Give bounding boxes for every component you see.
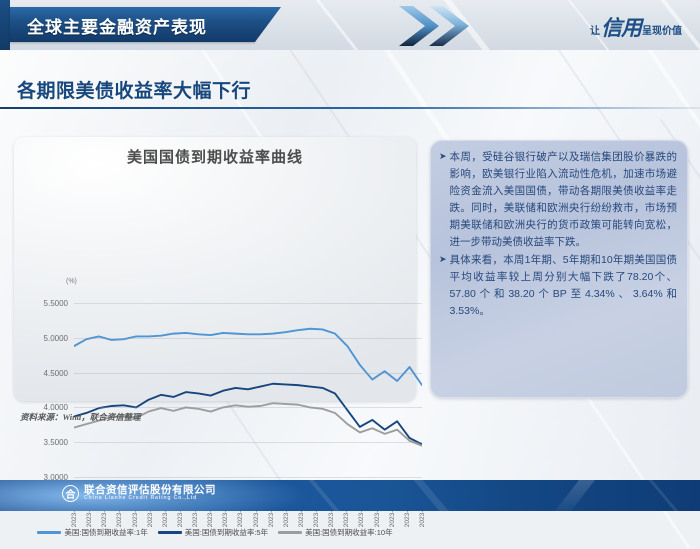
banner-accent-bar bbox=[0, 0, 10, 50]
commentary-text: 具体来看，本周1年期、5年期和10年期美国国债平均收益率较上周分别大幅下跌了78… bbox=[450, 252, 677, 320]
page-title: 各期限美债收益率大幅下行 bbox=[17, 76, 251, 103]
chart-legend-item[interactable]: 美国:国债到期收益率:5年 bbox=[158, 527, 268, 538]
chart-series-line bbox=[74, 403, 422, 445]
chart-legend-swatch bbox=[278, 531, 302, 534]
brand-slogan-suffix: 呈现价值 bbox=[642, 22, 682, 38]
chart-gridline bbox=[74, 442, 422, 443]
chart-gridline bbox=[74, 373, 422, 374]
commentary-bullet: ➤本周，受硅谷银行破产以及瑞信集团股价暴跌的影响，欧美银行业陷入流动性危机，加速… bbox=[439, 149, 677, 251]
brand-slogan: 让 信用 呈现价值 bbox=[590, 20, 682, 38]
chart-gridline bbox=[74, 407, 422, 408]
chart-lines bbox=[74, 303, 422, 477]
chart-legend-swatch bbox=[158, 531, 182, 534]
banner-title: 全球主要金融资产表现 bbox=[27, 13, 207, 38]
chart-legend: 美国:国债到期收益率:1年美国:国债到期收益率:5年美国:国债到期收益率:10年 bbox=[14, 527, 416, 538]
arrow-bullet-icon: ➤ bbox=[439, 252, 447, 267]
chart-title: 美国国债到期收益率曲线 bbox=[14, 146, 416, 167]
chart-gridline bbox=[74, 338, 422, 339]
chart-gridline bbox=[74, 477, 422, 478]
chart-source-note: 资料来源：Wind，联合资信整理 bbox=[20, 411, 141, 423]
chart-y-tick-label: 3.5000 bbox=[22, 438, 68, 447]
commentary-bullet: ➤具体来看，本周1年期、5年期和10年期美国国债平均收益率较上周分别大幅下跌了7… bbox=[439, 252, 677, 320]
arrow-bullet-icon: ➤ bbox=[439, 149, 447, 164]
lianhe-circle-logo-icon: 合 bbox=[62, 485, 79, 502]
commentary-panel: ➤本周，受硅谷银行破产以及瑞信集团股价暴跌的影响，欧美银行业陷入流动性危机，加速… bbox=[430, 140, 688, 398]
chart-unit-label: (%) bbox=[66, 278, 77, 285]
chart-plot-area bbox=[74, 303, 422, 477]
brand-slogan-prefix: 让 bbox=[590, 22, 600, 38]
heading-divider bbox=[0, 107, 700, 109]
chart-y-tick-label: 5.0000 bbox=[22, 334, 68, 343]
page-footer: 合 联合资信评估股份有限公司 China Lianhe Credit Ratin… bbox=[0, 480, 700, 511]
chart-y-axis-labels: 5.50005.00004.50004.00003.50003.0000 bbox=[22, 303, 68, 477]
banner-title-plate-tail bbox=[255, 7, 281, 42]
chart-legend-label: 美国:国债到期收益率:10年 bbox=[305, 527, 393, 538]
chart-y-tick-label: 4.5000 bbox=[22, 369, 68, 378]
brand-slogan-main: 信用 bbox=[601, 20, 641, 38]
commentary-text: 本周，受硅谷银行破产以及瑞信集团股价暴跌的影响，欧美银行业陷入流动性危机，加速市… bbox=[450, 149, 677, 251]
footer-company-en: China Lianhe Credit Rating Co.,Ltd bbox=[84, 496, 216, 501]
chart-legend-item[interactable]: 美国:国债到期收益率:10年 bbox=[278, 527, 393, 538]
chart-legend-label: 美国:国债到期收益率:5年 bbox=[185, 527, 268, 538]
chart-legend-label: 美国:国债到期收益率:1年 bbox=[64, 527, 147, 538]
double-chevron-right-icon bbox=[395, 4, 505, 48]
chart-y-tick-label: 5.5000 bbox=[22, 299, 68, 308]
chart-legend-item[interactable]: 美国:国债到期收益率:1年 bbox=[37, 527, 147, 538]
footer-logo: 合 联合资信评估股份有限公司 China Lianhe Credit Ratin… bbox=[62, 485, 216, 502]
top-banner: 全球主要金融资产表现 让 信用 呈现价值 bbox=[0, 0, 700, 50]
chart-legend-swatch bbox=[37, 531, 61, 534]
chart-gridline bbox=[74, 303, 422, 304]
footer-diagonal-accent bbox=[555, 480, 595, 511]
chart-card: 美国国债到期收益率曲线 (%) 5.50005.00004.50004.0000… bbox=[14, 137, 416, 401]
